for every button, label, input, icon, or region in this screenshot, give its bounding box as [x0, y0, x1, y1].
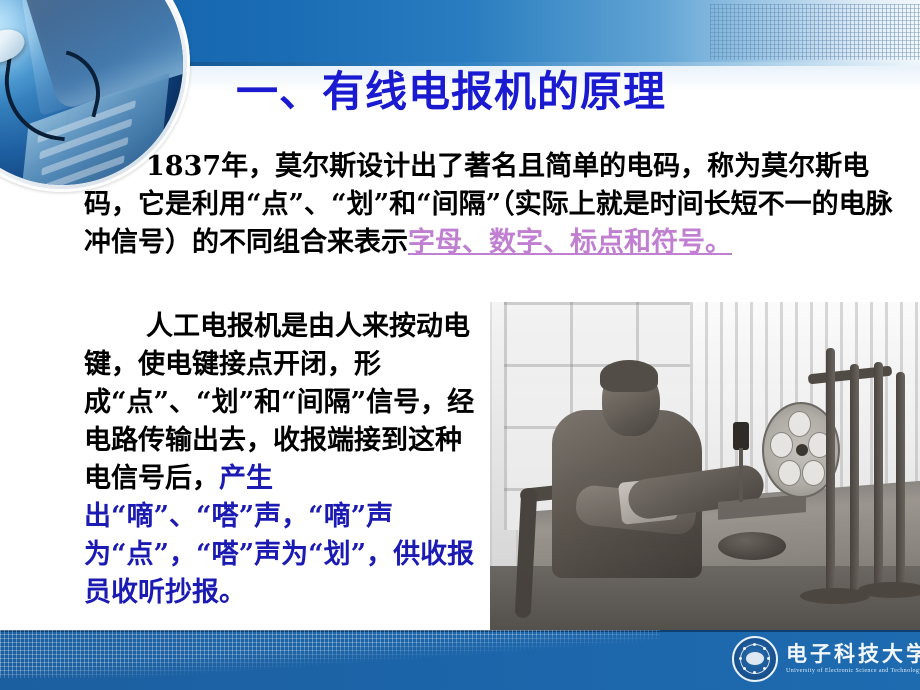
paragraph-1-hyperlink[interactable]: 字母、数字、标点和符号。 [408, 227, 732, 258]
body-paragraph-1: 1837年，莫尔斯设计出了著名且简单的电码，称为莫尔斯电码，它是利用“点”、“划… [84, 148, 902, 262]
university-logo-text: 电子科技大学 University of Electronic Science … [786, 644, 920, 674]
telegraph-operator-photo [490, 302, 920, 630]
university-name-english: University of Electronic Science and Tec… [786, 668, 920, 674]
university-name-chinese: 电子科技大学 [786, 644, 920, 665]
body-paragraph-2: 人工电报机是由人来按动电键，使电键接点开闭，形成“点”、“划”和“间隔”信号，经… [84, 308, 488, 612]
top-banner-halftone-texture [710, 4, 920, 60]
top-banner [148, 0, 920, 62]
university-seal-icon [732, 636, 778, 682]
page-title: 一、有线电报机的原理 [236, 66, 896, 118]
seal-core-icon [746, 652, 764, 665]
bottom-banner-halftone-texture [0, 630, 660, 678]
paragraph-2-text: 人工电报机是由人来按动电键，使电键接点开闭，形成“点”、“划”和“间隔”信号，经… [84, 311, 474, 494]
university-logo: 电子科技大学 University of Electronic Science … [732, 634, 916, 684]
photo-tone-overlay [490, 302, 920, 630]
slide-canvas: 一、有线电报机的原理 1837年，莫尔斯设计出了著名且简单的电码，称为莫尔斯电码… [0, 0, 920, 690]
